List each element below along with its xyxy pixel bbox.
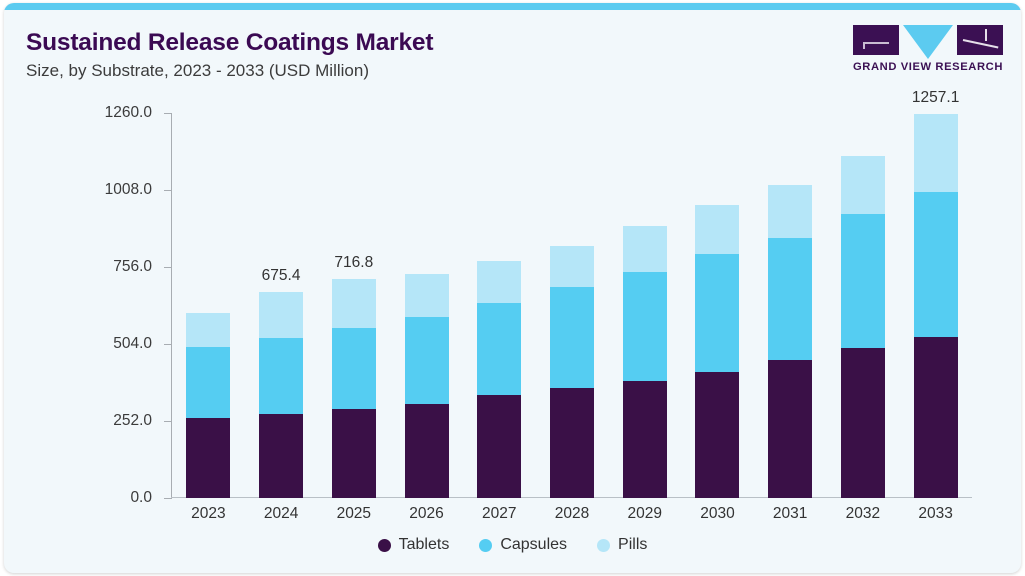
- legend-label: Pills: [618, 536, 647, 554]
- chart-title: Sustained Release Coatings Market: [26, 29, 433, 57]
- bar-segment-pills[interactable]: [914, 114, 958, 193]
- y-axis-tick: [164, 498, 172, 499]
- x-axis-tick-label: 2032: [846, 505, 880, 523]
- bar-segment-tablets[interactable]: [405, 404, 449, 498]
- y-axis-tick: [164, 190, 172, 191]
- grand-view-research-logo: GRAND VIEW RESEARCH: [853, 25, 1003, 77]
- plot-area: 2023675.42024716.82025202620272028202920…: [172, 113, 972, 498]
- bar-group[interactable]: 675.42024: [259, 113, 303, 498]
- bar-segment-pills[interactable]: [259, 292, 303, 339]
- legend-swatch-icon: [597, 539, 610, 552]
- x-axis-tick-label: 2030: [700, 505, 734, 523]
- bar-group[interactable]: 2032: [841, 113, 885, 498]
- logo-left-block-icon: [853, 25, 899, 55]
- logo-left-notch-icon: [863, 42, 889, 44]
- x-axis-tick-label: 2033: [918, 505, 952, 523]
- legend-swatch-icon: [479, 539, 492, 552]
- x-axis-tick-label: 2031: [773, 505, 807, 523]
- bar-segment-capsules[interactable]: [768, 238, 812, 360]
- bar-group[interactable]: 2027: [477, 113, 521, 498]
- y-axis-tick-label: 756.0: [113, 258, 152, 276]
- bar-segment-pills[interactable]: [695, 205, 739, 254]
- bar-segment-capsules[interactable]: [405, 317, 449, 404]
- logo-left-notch-vertical-icon: [863, 42, 865, 49]
- logo-right-tick-icon: [985, 29, 987, 41]
- bar-segment-pills[interactable]: [550, 246, 594, 287]
- y-axis-tick-label: 0.0: [130, 489, 152, 507]
- bar-segment-capsules[interactable]: [259, 338, 303, 414]
- bar-segment-pills[interactable]: [623, 226, 667, 272]
- bar-segment-tablets[interactable]: [186, 418, 230, 498]
- bar-segment-tablets[interactable]: [841, 348, 885, 498]
- bar-segment-tablets[interactable]: [623, 381, 667, 498]
- bar-group[interactable]: 2031: [768, 113, 812, 498]
- logo-right-block-icon: [957, 25, 1003, 55]
- y-axis-line: [171, 113, 172, 498]
- bar-segment-pills[interactable]: [477, 261, 521, 303]
- y-axis-tick-label: 252.0: [113, 412, 152, 430]
- bar-segment-tablets[interactable]: [914, 337, 958, 498]
- logo-wordmark: GRAND VIEW RESEARCH: [853, 61, 1003, 73]
- bar-segment-tablets[interactable]: [259, 414, 303, 498]
- bar-value-label: 675.4: [262, 267, 301, 285]
- legend-label: Capsules: [500, 536, 567, 554]
- bar-segment-pills[interactable]: [841, 156, 885, 214]
- bar-segment-capsules[interactable]: [186, 347, 230, 418]
- bar-group[interactable]: 2026: [405, 113, 449, 498]
- bar-segment-capsules[interactable]: [695, 254, 739, 372]
- x-axis-tick-label: 2028: [555, 505, 589, 523]
- logo-right-slash-icon: [963, 39, 999, 48]
- x-axis-tick-label: 2029: [627, 505, 661, 523]
- x-axis-tick-label: 2025: [337, 505, 371, 523]
- bar-group[interactable]: 2029: [623, 113, 667, 498]
- bar-segment-capsules[interactable]: [914, 192, 958, 337]
- legend-swatch-icon: [378, 539, 391, 552]
- bar-segment-tablets[interactable]: [550, 388, 594, 498]
- bar-value-label: 716.8: [334, 254, 373, 272]
- bar-segment-tablets[interactable]: [332, 409, 376, 498]
- bar-segment-capsules[interactable]: [623, 272, 667, 381]
- x-axis-tick-label: 2027: [482, 505, 516, 523]
- bar-segment-capsules[interactable]: [332, 328, 376, 410]
- y-axis-tick: [164, 113, 172, 114]
- y-axis-tick: [164, 344, 172, 345]
- bar-group[interactable]: 2023: [186, 113, 230, 498]
- bar-segment-pills[interactable]: [186, 313, 230, 347]
- accent-top-bar: [4, 3, 1021, 10]
- y-axis-tick: [164, 267, 172, 268]
- x-axis-tick-label: 2023: [191, 505, 225, 523]
- bar-segment-tablets[interactable]: [477, 395, 521, 498]
- legend-item-capsules[interactable]: Capsules: [479, 536, 567, 554]
- logo-triangle-icon: [903, 25, 953, 59]
- bar-segment-pills[interactable]: [332, 279, 376, 328]
- bar-segment-tablets[interactable]: [695, 372, 739, 498]
- chart-legend: TabletsCapsulesPills: [4, 536, 1021, 554]
- y-axis-labels: 0.0252.0504.0756.01008.01260.0: [4, 113, 164, 498]
- legend-item-pills[interactable]: Pills: [597, 536, 647, 554]
- bar-group[interactable]: 2030: [695, 113, 739, 498]
- bar-segment-pills[interactable]: [768, 185, 812, 238]
- y-axis-tick-label: 504.0: [113, 335, 152, 353]
- bar-segment-tablets[interactable]: [768, 360, 812, 498]
- bar-group[interactable]: 2028: [550, 113, 594, 498]
- legend-label: Tablets: [399, 536, 450, 554]
- chart-card: Sustained Release Coatings Market Size, …: [4, 3, 1021, 573]
- x-axis-tick-label: 2026: [409, 505, 443, 523]
- bar-segment-capsules[interactable]: [477, 303, 521, 395]
- bar-segment-capsules[interactable]: [550, 287, 594, 388]
- y-axis-tick-label: 1008.0: [105, 181, 152, 199]
- chart-subtitle: Size, by Substrate, 2023 - 2033 (USD Mil…: [26, 61, 369, 81]
- bar-value-label: 1257.1: [912, 89, 959, 107]
- legend-item-tablets[interactable]: Tablets: [378, 536, 450, 554]
- bar-segment-pills[interactable]: [405, 274, 449, 317]
- x-axis-tick-label: 2024: [264, 505, 298, 523]
- y-axis-tick-label: 1260.0: [105, 104, 152, 122]
- bar-group[interactable]: 1257.12033: [914, 113, 958, 498]
- bar-segment-capsules[interactable]: [841, 214, 885, 348]
- bar-group[interactable]: 716.82025: [332, 113, 376, 498]
- y-axis-tick: [164, 421, 172, 422]
